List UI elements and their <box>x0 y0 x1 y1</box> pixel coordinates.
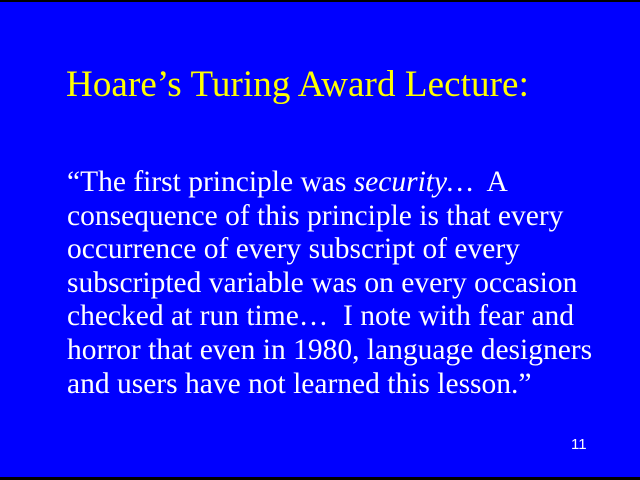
quote-line: occurrence of every subscript of every <box>67 233 607 267</box>
quote-line: consequence of this principle is that ev… <box>67 200 607 234</box>
page-title: Hoare’s Turing Award Lecture: <box>66 64 586 106</box>
quote-line: “The first principle was security… A <box>67 166 607 200</box>
quote-line-pre: and users have not learned this lesson.” <box>67 368 532 400</box>
quote-line: horror that even in 1980, language desig… <box>67 334 607 368</box>
quote-line: subscripted variable was on every occasi… <box>67 267 607 301</box>
quote-line-post: A <box>473 166 507 198</box>
quote-line-pre: occurrence of every subscript of every <box>67 233 520 265</box>
quote-line-pre: horror that even in 1980, language desig… <box>67 334 592 366</box>
quote-line-emphasis: security… <box>354 166 474 198</box>
quote-line: and users have not learned this lesson.” <box>67 368 607 402</box>
quote-line-pre: checked at run time… I note with fear an… <box>67 300 574 332</box>
quote-line-pre: “The first principle was <box>67 166 354 198</box>
quote-line-pre: consequence of this principle is that ev… <box>67 200 563 232</box>
quote-line-pre: subscripted variable was on every occasi… <box>67 267 577 299</box>
quote-body: “The first principle was security… A con… <box>67 166 607 401</box>
quote-line: checked at run time… I note with fear an… <box>67 300 607 334</box>
page-number: 11 <box>571 436 587 453</box>
slide-canvas: Hoare’s Turing Award Lecture: “The first… <box>0 0 640 480</box>
